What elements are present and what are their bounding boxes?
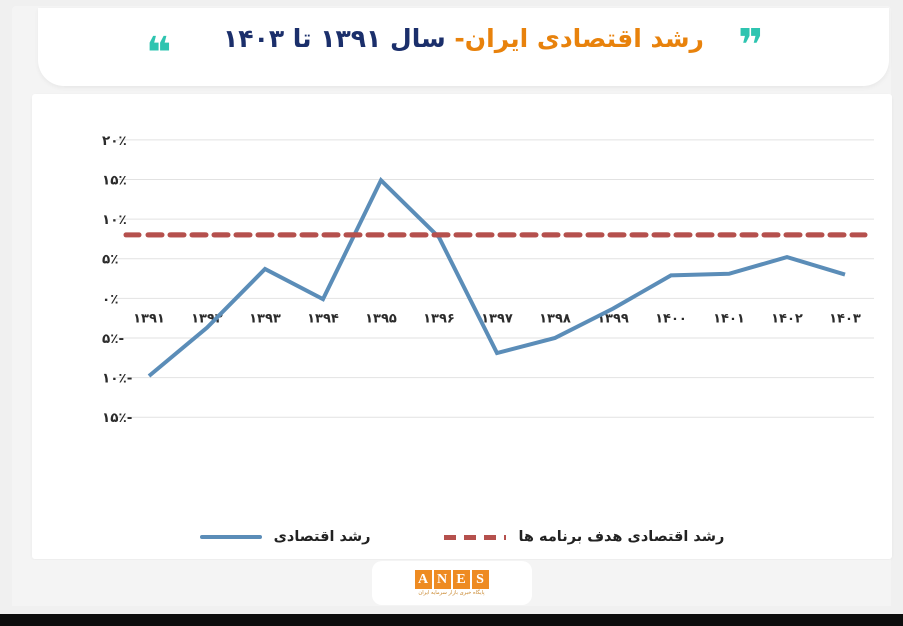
page-title-years: سال ۱۳۹۱ تا ۱۴۰۳ bbox=[223, 24, 446, 53]
x-axis-tick-label: ۱۳۹۱ bbox=[133, 311, 165, 326]
footer: S E N A پایگاه خبری بازار سرمایه ایران bbox=[12, 560, 891, 606]
chart-panel: ۲۰٪۱۵٪۱۰٪۵٪۰٪-۵٪-۱۰٪-۱۵٪ ۱۳۹۱۱۳۹۲۱۳۹۳۱۳۹… bbox=[32, 94, 892, 559]
x-axis-tick-label: ۱۴۰۱ bbox=[713, 311, 745, 326]
y-axis-tick-label: ۱۰٪ bbox=[102, 212, 127, 228]
y-axis-tick-label: ۲۰٪ bbox=[102, 133, 127, 149]
y-axis-tick-label: -۱۵٪ bbox=[102, 410, 132, 426]
legend-swatch-solid-icon bbox=[200, 535, 262, 539]
chart-legend: رشد اقتصادی رشد اقتصادی هدف برنامه ها bbox=[32, 529, 892, 545]
y-axis-tick-label: ۱۵٪ bbox=[102, 172, 127, 188]
chart-gridlines bbox=[116, 140, 874, 417]
sena-logo-subtitle: پایگاه خبری بازار سرمایه ایران bbox=[418, 590, 484, 596]
legend-label-target: رشد اقتصادی هدف برنامه ها bbox=[518, 529, 724, 545]
x-axis-tick-label: ۱۳۹۸ bbox=[539, 311, 571, 326]
x-axis-tick-label: ۱۳۹۵ bbox=[365, 311, 397, 326]
x-axis-tick-label: ۱۴۰۰ bbox=[655, 311, 687, 326]
chart-series-layer bbox=[126, 180, 870, 376]
line-chart: ۲۰٪۱۵٪۱۰٪۵٪۰٪-۵٪-۱۰٪-۱۵٪ ۱۳۹۱۱۳۹۲۱۳۹۳۱۳۹… bbox=[32, 94, 892, 559]
bottom-strip bbox=[0, 614, 903, 626]
y-axis-tick-labels: ۲۰٪۱۵٪۱۰٪۵٪۰٪-۵٪-۱۰٪-۱۵٪ bbox=[102, 133, 132, 426]
y-axis-tick-label: ۵٪ bbox=[102, 252, 118, 268]
x-axis-tick-label: ۱۳۹۶ bbox=[423, 311, 455, 326]
screenshot-root: ❞ ❝ رشد اقتصادی ایران- سال ۱۳۹۱ تا ۱۴۰۳ … bbox=[0, 0, 903, 626]
x-axis-tick-label: ۱۳۹۳ bbox=[249, 311, 281, 326]
page-title-separator: - bbox=[446, 24, 465, 53]
legend-swatch-dashed-icon bbox=[444, 535, 506, 540]
page-title: رشد اقتصادی ایران- سال ۱۳۹۱ تا ۱۴۰۳ bbox=[38, 24, 889, 53]
logo-letter-e: E bbox=[453, 570, 470, 589]
sena-logo: S E N A پایگاه خبری بازار سرمایه ایران bbox=[372, 561, 532, 605]
x-axis-tick-label: ۱۴۰۲ bbox=[771, 311, 803, 326]
series-line bbox=[149, 180, 845, 376]
page-title-main: رشد اقتصادی ایران bbox=[465, 24, 704, 53]
x-axis-tick-label: ۱۴۰۳ bbox=[829, 311, 861, 326]
logo-letter-n: N bbox=[434, 570, 451, 589]
x-axis-tick-labels: ۱۳۹۱۱۳۹۲۱۳۹۳۱۳۹۴۱۳۹۵۱۳۹۶۱۳۹۷۱۳۹۸۱۳۹۹۱۴۰۰… bbox=[133, 311, 861, 326]
x-axis-tick-label: ۱۳۹۴ bbox=[307, 311, 339, 326]
x-axis-tick-label: ۱۳۹۷ bbox=[481, 311, 513, 326]
sena-logo-letters: S E N A bbox=[415, 570, 489, 589]
y-axis-tick-label: -۱۰٪ bbox=[102, 371, 132, 387]
y-axis-tick-label: -۵٪ bbox=[102, 331, 124, 347]
logo-letter-a: A bbox=[415, 570, 432, 589]
logo-letter-s: S bbox=[472, 570, 489, 589]
y-axis-tick-label: ۰٪ bbox=[102, 291, 118, 307]
outer-card: ❞ ❝ رشد اقتصادی ایران- سال ۱۳۹۱ تا ۱۴۰۳ … bbox=[12, 6, 891, 606]
legend-label-growth: رشد اقتصادی bbox=[274, 529, 371, 545]
header-bar: ❞ ❝ رشد اقتصادی ایران- سال ۱۳۹۱ تا ۱۴۰۳ bbox=[38, 8, 889, 86]
legend-item-target[interactable]: رشد اقتصادی هدف برنامه ها bbox=[444, 529, 724, 545]
legend-item-growth[interactable]: رشد اقتصادی bbox=[200, 529, 371, 545]
